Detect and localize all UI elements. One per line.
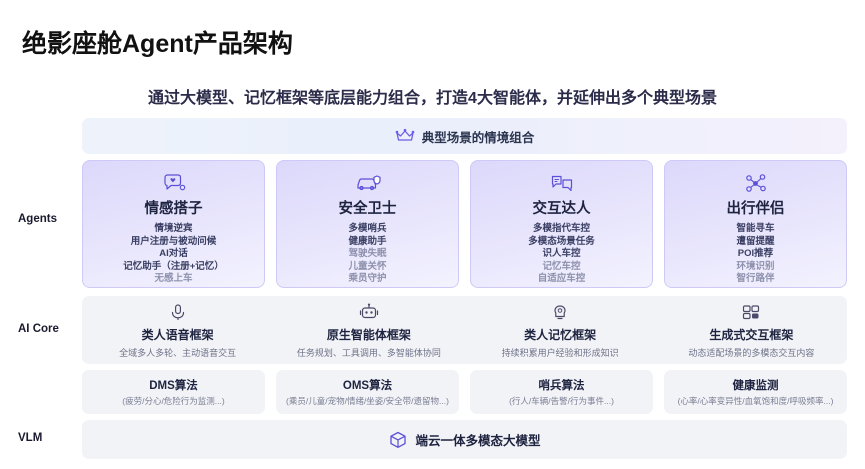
agent-native-icon (359, 302, 379, 322)
row-label-vlm: VLM (18, 432, 80, 444)
agent-line: 智能寻车 (736, 223, 774, 236)
agent-line-dim: 自适应车控 (528, 273, 595, 286)
agent-title: 出行伴侣 (727, 197, 785, 218)
agent-line: 多模哨兵 (348, 223, 386, 236)
algo-card-sentry[interactable]: 哨兵算法 (行人/车辆/告警/行为事件...) (470, 370, 653, 414)
travel-node-icon (744, 172, 768, 194)
agent-line: 多模指代车控 (528, 223, 595, 236)
agent-line-dim: 无感上车 (123, 273, 224, 286)
agent-line: 多模态场景任务 (528, 236, 595, 249)
agent-lines: 情境逆宾 用户注册与被动问候 AI对话 记忆助手（注册+记忆） 无感上车 (123, 223, 224, 286)
core-item-memory[interactable]: 类人记忆框架 持续积累用户经验和形成知识 (465, 296, 656, 364)
agent-line: 情境逆宾 (123, 223, 224, 236)
core-sub: 持续积累用户经验和形成知识 (502, 346, 619, 359)
car-shield-icon (355, 172, 381, 194)
core-sub: 动态适配场景的多模态交互内容 (688, 346, 814, 359)
core-title: 类人语音框架 (142, 326, 214, 343)
core-item-voice[interactable]: 类人语音框架 全域多人多轮、主动语音交互 (82, 296, 273, 364)
cube-model-icon (388, 430, 408, 450)
memory-icon (550, 302, 570, 322)
agent-line: 识人车控 (528, 248, 595, 261)
agent-card-emotion[interactable]: 情感搭子 情境逆宾 用户注册与被动问候 AI对话 记忆助手（注册+记忆） 无感上… (82, 160, 265, 288)
aicore-band: 类人语音框架 全域多人多轮、主动语音交互 原生智能体框架 任务规划、工具调用、多… (82, 296, 847, 364)
row-label-agents: Agents (18, 213, 80, 225)
agent-line-dim: 智行路伴 (736, 273, 774, 286)
agent-line-dim: 环境识别 (736, 261, 774, 274)
vlm-band: 端云一体多模态大模型 (82, 420, 847, 459)
agent-line: 用户注册与被动问候 (123, 236, 224, 249)
algo-sub: (疲劳/分心/危险行为监测...) (122, 395, 224, 407)
interaction-icon (550, 172, 574, 194)
page-title: 绝影座舱Agent产品架构 (22, 24, 293, 60)
agent-line: AI对话 (123, 248, 224, 261)
agent-line-dim: 乘员守护 (348, 273, 386, 286)
voice-wave-icon (168, 302, 188, 322)
heart-chat-icon (162, 172, 186, 194)
core-item-agent-native[interactable]: 原生智能体框架 任务规划、工具调用、多智能体协同 (273, 296, 464, 364)
agent-line: 健康助手 (348, 236, 386, 249)
core-title: 生成式交互框架 (709, 326, 793, 343)
algo-sub: (心率/心率变异性/血氧饱和度/呼吸频率...) (678, 395, 834, 407)
algorithms-band: DMS算法 (疲劳/分心/危险行为监测...) OMS算法 (乘员/儿童/宠物/… (82, 370, 847, 414)
agent-card-travel[interactable]: 出行伴侣 智能寻车 遭留提醒 POI推荐 环境识别 智行路伴 (664, 160, 847, 288)
algo-sub: (乘员/儿童/宠物/情绪/坐姿/安全带/遗留物...) (286, 395, 449, 407)
algo-title: 哨兵算法 (539, 377, 585, 393)
algo-title: 健康监测 (733, 377, 779, 393)
core-title: 类人记忆框架 (524, 326, 596, 343)
core-title: 原生智能体框架 (327, 326, 411, 343)
algo-card-dms[interactable]: DMS算法 (疲劳/分心/危险行为监测...) (82, 370, 265, 414)
agent-card-interaction[interactable]: 交互达人 多模指代车控 多模态场景任务 识人车控 记忆车控 自适应车控 (470, 160, 653, 288)
agent-line-dim: 儿童关怀 (348, 261, 386, 274)
algo-title: OMS算法 (343, 377, 392, 393)
page-subtitle: 通过大模型、记忆框架等底层能力组合，打造4大智能体，并延伸出多个典型场景 (0, 84, 865, 108)
generative-ui-icon (741, 302, 761, 322)
agent-line-dim: 驾驶失眠 (348, 248, 386, 261)
agent-card-safety[interactable]: 安全卫士 多模哨兵 健康助手 驾驶失眠 儿童关怀 乘员守护 (276, 160, 459, 288)
algo-sub: (行人/车辆/告警/行为事件...) (509, 395, 614, 407)
algo-card-oms[interactable]: OMS算法 (乘员/儿童/宠物/情绪/坐姿/安全带/遗留物...) (276, 370, 459, 414)
agent-line: POI推荐 (736, 248, 774, 261)
agent-lines: 智能寻车 遭留提醒 POI推荐 环境识别 智行路伴 (736, 223, 774, 286)
row-label-aicore: AI Core (18, 323, 80, 335)
agent-title: 交互达人 (533, 197, 591, 218)
agent-title: 情感搭子 (145, 197, 203, 218)
agent-line: 记忆助手（注册+记忆） (123, 261, 224, 274)
agent-lines: 多模哨兵 健康助手 驾驶失眠 儿童关怀 乘员守护 (348, 223, 386, 286)
scenario-band-label: 典型场景的情境组合 (422, 127, 535, 146)
scenario-band: 典型场景的情境组合 (82, 118, 847, 154)
algo-card-health[interactable]: 健康监测 (心率/心率变异性/血氧饱和度/呼吸频率...) (664, 370, 847, 414)
agent-line-dim: 记忆车控 (528, 261, 595, 274)
core-sub: 全域多人多轮、主动语音交互 (119, 346, 236, 359)
architecture-diagram: 典型场景的情境组合 Agents 情感搭子 情境逆宾 用户注册与被动问候 AI对… (18, 118, 847, 459)
crown-icon (395, 128, 415, 144)
core-sub: 任务规划、工具调用、多智能体协同 (297, 346, 441, 359)
vlm-label: 端云一体多模态大模型 (415, 430, 540, 449)
algo-title: DMS算法 (149, 377, 198, 393)
core-item-generative[interactable]: 生成式交互框架 动态适配场景的多模态交互内容 (656, 296, 847, 364)
agents-band: 情感搭子 情境逆宾 用户注册与被动问候 AI对话 记忆助手（注册+记忆） 无感上… (82, 160, 847, 288)
agent-line: 遭留提醒 (736, 236, 774, 249)
agent-lines: 多模指代车控 多模态场景任务 识人车控 记忆车控 自适应车控 (528, 223, 595, 286)
agent-title: 安全卫士 (339, 197, 397, 218)
